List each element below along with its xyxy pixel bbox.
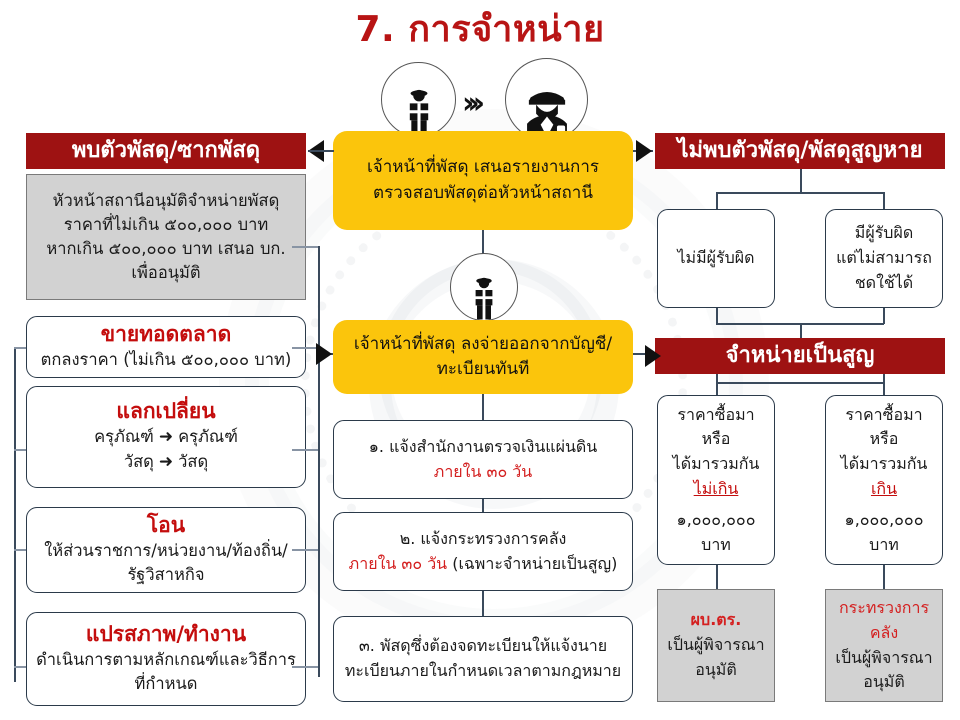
- method-box-transfer: โอน ให้ส่วนราชการ/หน่วยงาน/ท้องถิ่น/ รัฐ…: [26, 507, 306, 593]
- exchange-pair-1: ครุภัณฑ์➜ครุภัณฑ์: [94, 425, 238, 450]
- step2-line1: ๒. แจ้งกระทรวงการคลัง: [400, 527, 567, 552]
- right-case-box-1: ไม่มีผู้รับผิด: [657, 209, 775, 308]
- approver1-line2: อนุมัติ: [695, 658, 736, 683]
- page-title: 7. การจำหน่าย: [0, 8, 960, 52]
- connector-transfer-out: [292, 549, 318, 551]
- arrow-into-center-process: [316, 343, 332, 365]
- connector-case-1-in: [716, 192, 718, 210]
- connector-exchange-out: [292, 449, 318, 451]
- connector-case-2-in: [883, 192, 885, 210]
- connector-to-subheader: [800, 323, 802, 339]
- step3-line2: ทะเบียนภายในกำหนดเวลาตามกฎหมาย: [345, 659, 621, 684]
- method-title-auction: ขายทอดตลาด: [101, 322, 231, 347]
- right-branch-header: ไม่พบตัวพัสดุ/พัสดุสูญหาย: [655, 133, 945, 169]
- approval-line1: หัวหน้าสถานีอนุมัติจำหน่ายพัสดุ: [53, 189, 280, 213]
- staff-officer-icon: [396, 86, 442, 136]
- approver1-line1: เป็นผู้พิจารณา: [667, 633, 764, 658]
- methods-spine: [14, 347, 16, 682]
- exchange-arrow-icon-2: ➜: [154, 452, 178, 472]
- threshold1-condition: ไม่เกิน: [694, 477, 739, 502]
- step1-line2: ภายใน ๓๐ วัน: [434, 460, 532, 485]
- threshold2-condition: เกิน: [871, 477, 897, 502]
- approver2-name: กระทรวงการคลัง: [834, 596, 934, 646]
- step2-line2: ภายใน ๓๐ วัน (เฉพาะจำหน่ายเป็นสูญ): [349, 552, 618, 577]
- method-title-transfer: โอน: [147, 513, 185, 538]
- convert-line2: ที่กำหนด: [134, 672, 197, 696]
- connector-step2: [482, 499, 484, 513]
- approval-line3: หากเกิน ๕๐๐,๐๐๐ บาท เสนอ บก.: [46, 237, 285, 261]
- officer-icon-circle-center: [450, 253, 518, 321]
- approver2-line1: เป็นผู้พิจารณา: [835, 646, 932, 671]
- transfer-line2: รัฐวิสาหกิจ: [127, 563, 204, 587]
- connector-left-to-center-vert: [318, 246, 320, 351]
- arrow-into-subheader: [645, 345, 661, 367]
- approval-line2: ราคาที่ไม่เกิน ๕๐๐,๐๐๐ บาท: [64, 213, 269, 237]
- left-branch-header: พบตัวพัสดุ/ซากพัสดุ: [26, 133, 306, 169]
- exchange-pair-2-from: วัสดุ: [124, 452, 154, 471]
- top-process-box: เจ้าหน้าที่พัสดุ เสนอรายงานการ ตรวจสอบพั…: [333, 131, 633, 230]
- connector-right-split: [716, 192, 884, 194]
- connector-approver-1: [716, 565, 718, 590]
- convert-line1: ดำเนินการตามหลักเกณฑ์และวิธีการ: [36, 648, 296, 672]
- connector-right-header-down: [800, 169, 802, 193]
- threshold1-amount: ๑,๐๐๐,๐๐๐: [677, 508, 756, 533]
- connector-threshold-split: [716, 382, 884, 384]
- connector-top-left: [308, 150, 334, 152]
- connector-top-to-second: [482, 230, 484, 255]
- right-case-box-2: มีผู้รับผิด แต่ไม่สามารถ ชดใช้ได้: [825, 209, 943, 308]
- connector-threshold-1-drop: [716, 382, 718, 396]
- connector-convert-out: [292, 666, 318, 668]
- top-process-line1: เจ้าหน้าที่พัสดุ เสนอรายงานการ: [367, 155, 599, 181]
- center-step-3: ๓. พัสดุซึ่งต้องจดทะเบียนให้แจ้งนาย ทะเบ…: [333, 616, 633, 702]
- connector-approval-out: [292, 246, 318, 248]
- exchange-pair-1-to: ครุภัณฑ์: [178, 427, 238, 446]
- method-detail-auction: ตกลงราคา (ไม่เกิน ๕๐๐,๐๐๐ บาท): [41, 348, 292, 372]
- approver-box-2: กระทรวงการคลัง เป็นผู้พิจารณา อนุมัติ: [825, 589, 943, 702]
- connector-step1: [482, 394, 484, 421]
- case2-line3: ชดใช้ได้: [855, 271, 913, 296]
- step2-note: (เฉพาะจำหน่ายเป็นสูญ): [447, 554, 617, 573]
- case2-line1: มีผู้รับผิด: [855, 221, 913, 246]
- threshold-box-2: ราคาซื้อมาหรือ ได้มารวมกัน เกิน ๑,๐๐๐,๐๐…: [825, 395, 943, 565]
- exchange-pair-2: วัสดุ➜วัสดุ: [124, 450, 208, 475]
- center-step-2: ๒. แจ้งกระทรวงการคลัง ภายใน ๓๐ วัน (เฉพา…: [333, 512, 633, 591]
- top-process-line2: ตรวจสอบพัสดุต่อหัวหน้าสถานี: [373, 181, 593, 207]
- step1-line1: ๑. แจ้งสำนักงานตรวจเงินแผ่นดิน: [369, 435, 597, 460]
- method-box-auction: ขายทอดตลาด ตกลงราคา (ไม่เกิน ๕๐๐,๐๐๐ บาท…: [26, 316, 306, 378]
- staff-officer-icon-2: [463, 274, 505, 320]
- second-process-line2: ทะเบียนทันที: [437, 357, 530, 383]
- threshold2-line1: ราคาซื้อมาหรือ: [834, 403, 934, 453]
- connector-threshold-2-in: [883, 374, 885, 396]
- connector-approver-2: [883, 565, 885, 590]
- diagram-canvas: 7. การจำหน่าย ››› หัวหน้าสถานีตำรวจ เจ้า…: [0, 0, 960, 720]
- exchange-pair-2-to: วัสดุ: [178, 452, 208, 471]
- approver2-line2: อนุมัติ: [863, 670, 904, 695]
- officer-icon-circle-left: [381, 62, 456, 137]
- transfer-line1: ให้ส่วนราชการ/หน่วยงาน/ท้องถิ่น/: [44, 539, 287, 563]
- chevron-arrow-icon: ›››: [462, 86, 478, 121]
- method-box-exchange: แลกเปลี่ยน ครุภัณฑ์➜ครุภัณฑ์ วัสดุ➜วัสดุ: [26, 386, 306, 488]
- left-approval-box: หัวหน้าสถานีอนุมัติจำหน่ายพัสดุ ราคาที่ไ…: [26, 174, 306, 300]
- connector-step3: [482, 591, 484, 617]
- threshold-box-1: ราคาซื้อมาหรือ ได้มารวมกัน ไม่เกิน ๑,๐๐๐…: [657, 395, 775, 565]
- case2-line2: แต่ไม่สามารถ: [836, 246, 932, 271]
- exchange-pair-1-from: ครุภัณฑ์: [94, 427, 154, 446]
- threshold1-unit: บาท: [701, 533, 731, 558]
- case1-line1: ไม่มีผู้รับผิด: [677, 246, 754, 271]
- officer-icon-circle-right: หัวหน้าสถานีตำรวจ: [505, 58, 588, 141]
- approver-box-1: ผบ.ตร. เป็นผู้พิจารณา อนุมัติ: [657, 589, 775, 702]
- approver1-name: ผบ.ตร.: [691, 608, 742, 633]
- step2-deadline: ภายใน ๓๐ วัน: [349, 554, 447, 573]
- connector-methods-collector: [318, 347, 320, 677]
- second-process-box: เจ้าหน้าที่พัสดุ ลงจ่ายออกจากบัญชี/ ทะเบ…: [333, 320, 633, 394]
- arrow-to-right-branch: [636, 140, 652, 162]
- threshold1-line1: ราคาซื้อมาหรือ: [666, 403, 766, 453]
- exchange-arrow-icon-1: ➜: [154, 427, 178, 447]
- connector-case-2-out: [883, 308, 885, 324]
- method-title-convert: แปรสภาพ/ทำงาน: [86, 622, 246, 647]
- approval-line4: เพื่ออนุมัติ: [131, 261, 200, 285]
- threshold2-unit: บาท: [869, 533, 899, 558]
- step3-line1: ๓. พัสดุซึ่งต้องจดทะเบียนให้แจ้งนาย: [359, 634, 607, 659]
- second-process-line1: เจ้าหน้าที่พัสดุ ลงจ่ายออกจากบัญชี/: [354, 332, 612, 358]
- connector-auction-out: [292, 347, 318, 349]
- right-subheader: จำหน่ายเป็นสูญ: [655, 338, 945, 374]
- method-title-exchange: แลกเปลี่ยน: [116, 399, 215, 424]
- threshold2-line2: ได้มารวมกัน: [841, 452, 928, 477]
- threshold2-amount: ๑,๐๐๐,๐๐๐: [845, 508, 924, 533]
- connector-case-1-out: [716, 308, 718, 324]
- center-step-1: ๑. แจ้งสำนักงานตรวจเงินแผ่นดิน ภายใน ๓๐ …: [333, 420, 633, 499]
- threshold1-line2: ได้มารวมกัน: [673, 452, 760, 477]
- method-box-convert: แปรสภาพ/ทำงาน ดำเนินการตามหลักเกณฑ์และวิ…: [26, 612, 306, 706]
